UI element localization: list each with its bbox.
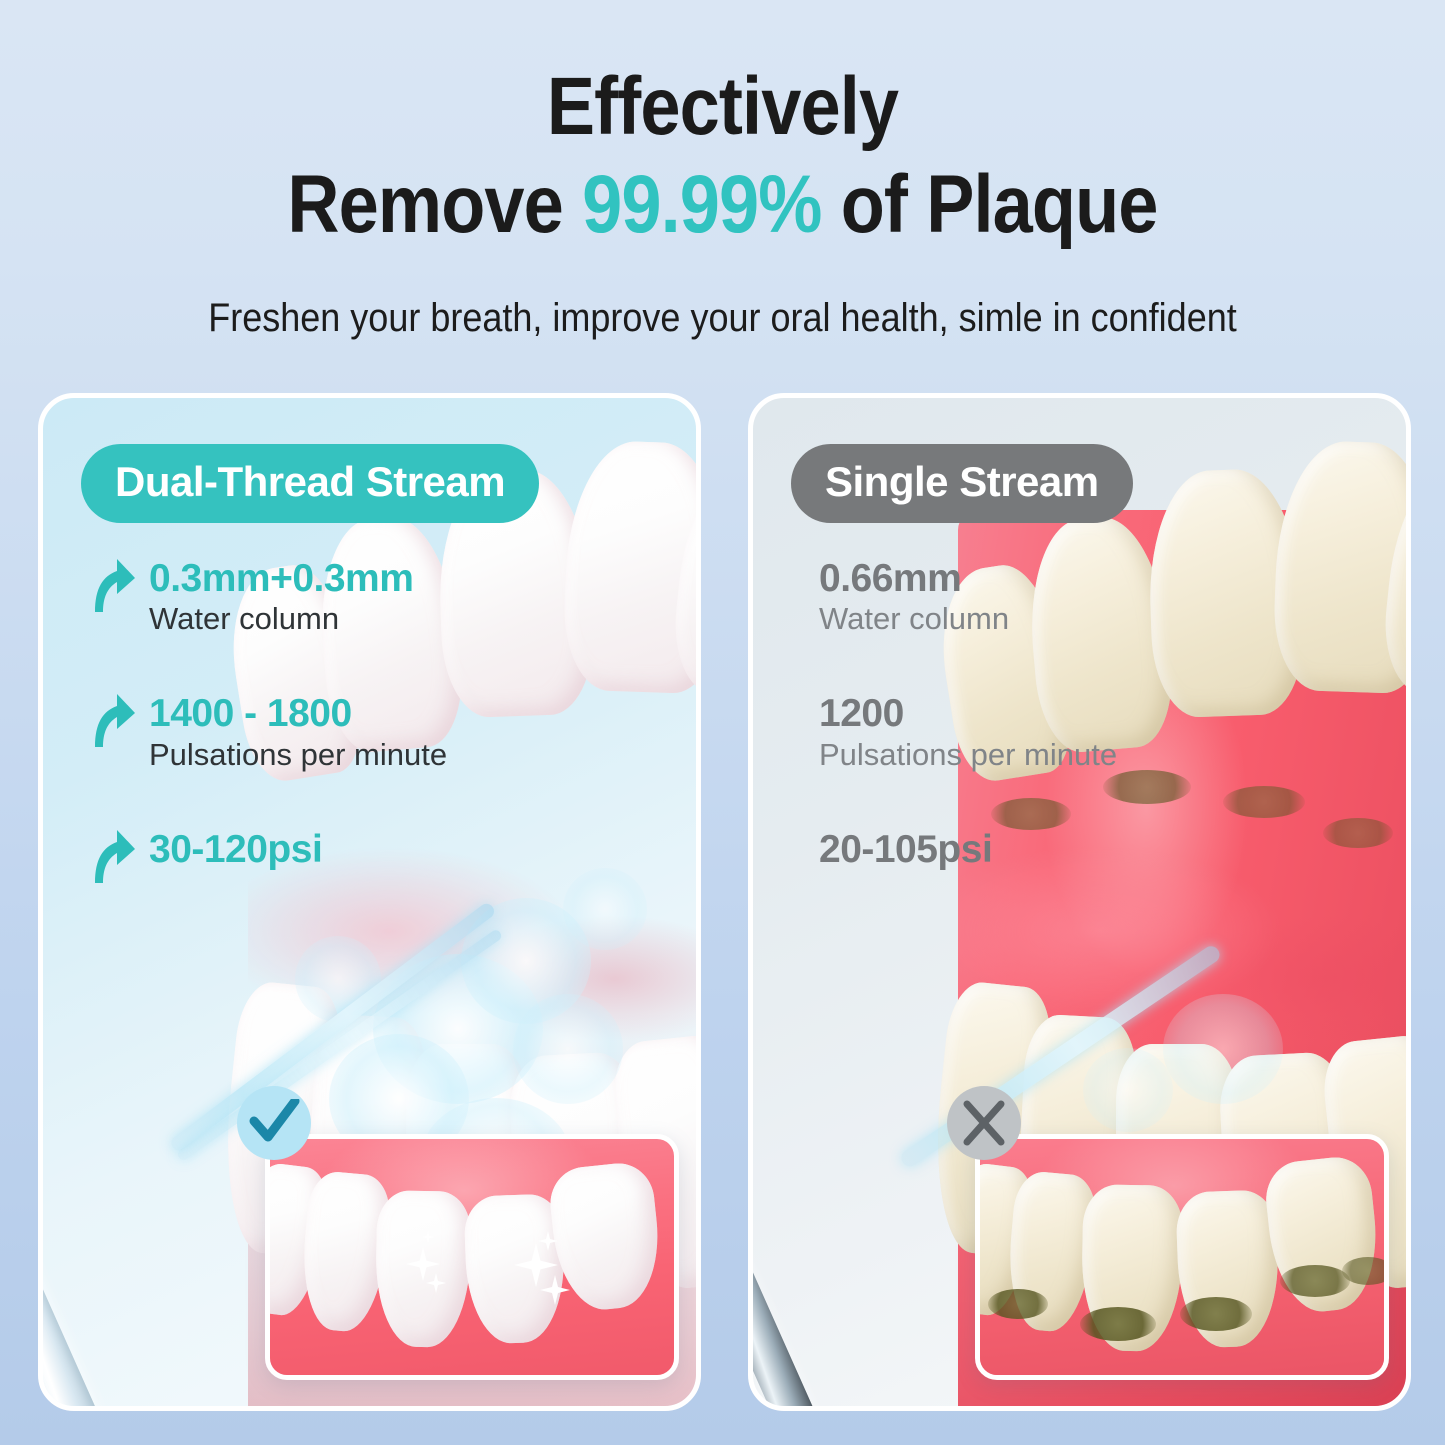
badge-dual-thread-stream: Dual-Thread Stream — [81, 444, 539, 523]
spec-value: 20-105psi — [819, 829, 1227, 870]
subheadline: Freshen your breath, improve your oral h… — [72, 296, 1373, 341]
inset-thumbnail-plaque-teeth — [975, 1134, 1389, 1380]
badge-single-stream: Single Stream — [791, 444, 1133, 523]
spec-row-water-column: 0.66mm Water column — [797, 558, 1227, 637]
nozzle-tip-clear — [43, 1142, 99, 1406]
inset-thumbnail-clean-teeth — [265, 1134, 679, 1380]
status-badge-check — [237, 1086, 311, 1160]
spec-row-water-column: 0.3mm+0.3mm Water column — [87, 558, 517, 637]
spec-row-pressure: 20-105psi — [797, 829, 1227, 870]
spec-value: 30-120psi — [149, 829, 517, 870]
cross-icon — [960, 1099, 1008, 1147]
inset-plaque — [1280, 1265, 1350, 1297]
spec-row-pulsations: 1200 Pulsations per minute — [797, 693, 1227, 772]
comparison-cards: Dual-Thread Stream 0.3mm+0.3mm Water col… — [0, 393, 1445, 1413]
spec-value: 0.66mm — [819, 558, 1227, 599]
spec-value: 1400 - 1800 — [149, 693, 517, 734]
inset-plaque — [988, 1289, 1048, 1319]
tooth-upper-4 — [562, 439, 696, 694]
spec-label: Pulsations per minute — [149, 737, 517, 773]
spec-row-pulsations: 1400 - 1800 Pulsations per minute — [87, 693, 517, 772]
inset-plaque — [1080, 1307, 1156, 1341]
status-badge-cross — [947, 1086, 1021, 1160]
headline-block: Effectively Remove 99.99% of Plaque — [0, 66, 1445, 248]
nozzle-tip-dark — [753, 1152, 821, 1406]
tooth-upper-4 — [1272, 439, 1406, 694]
spec-label: Pulsations per minute — [819, 737, 1227, 773]
headline-percentage: 99.99% — [582, 159, 821, 250]
spec-list-dual-thread: 0.3mm+0.3mm Water column 1400 - 1800 Pul… — [87, 558, 517, 926]
arrow-up-curved-icon — [87, 554, 139, 616]
spec-list-single-stream: 0.66mm Water column 1200 Pulsations per … — [797, 558, 1227, 926]
spec-value: 0.3mm+0.3mm — [149, 558, 517, 599]
headline-suffix: of Plaque — [822, 159, 1158, 250]
headline-line-1: Effectively — [87, 66, 1359, 148]
arrow-up-curved-icon — [87, 825, 139, 887]
arrow-up-curved-icon — [87, 689, 139, 751]
spec-row-pressure: 30-120psi — [87, 829, 517, 870]
spec-label: Water column — [819, 601, 1227, 637]
headline-line-2: Remove 99.99% of Plaque — [87, 162, 1359, 248]
inset-plaque — [1342, 1257, 1389, 1285]
check-icon — [248, 1099, 300, 1147]
inset-plaque — [1180, 1297, 1252, 1331]
card-single-stream: Single Stream 0.66mm Water column 1200 P… — [748, 393, 1411, 1411]
spec-value: 1200 — [819, 693, 1227, 734]
spec-label: Water column — [149, 601, 517, 637]
card-dual-thread: Dual-Thread Stream 0.3mm+0.3mm Water col… — [38, 393, 701, 1411]
headline-prefix: Remove — [287, 159, 582, 250]
